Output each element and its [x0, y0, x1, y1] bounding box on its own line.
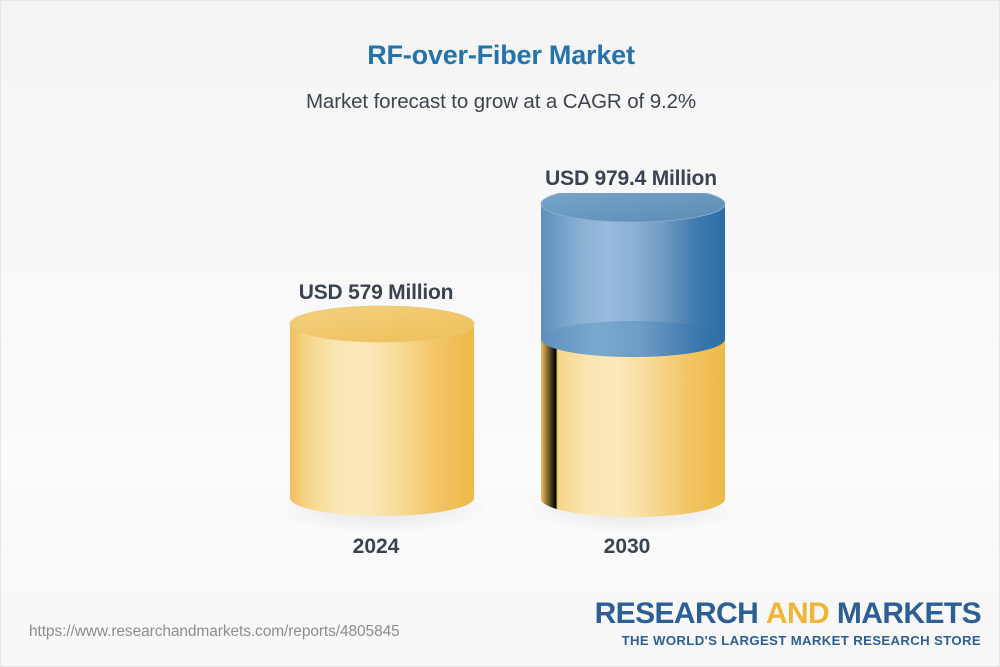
chart-subtitle: Market forecast to grow at a CAGR of 9.2… — [1, 90, 1000, 114]
bar-cylinder-2030 — [533, 193, 733, 523]
category-label-2024: 2024 — [276, 535, 476, 559]
logo-word-markets: MARKETS — [837, 597, 981, 630]
logo-word-and: AND — [766, 597, 829, 630]
chart-canvas: RF-over-Fiber Market Market forecast to … — [0, 0, 1000, 667]
logo-word-research: RESEARCH — [595, 597, 759, 630]
source-url[interactable]: https://www.researchandmarkets.com/repor… — [29, 623, 400, 641]
bar-value-label-2030: USD 979.4 Million — [431, 167, 831, 191]
logo-wordmark: RESEARCH AND MARKETS — [595, 599, 981, 629]
brand-logo[interactable]: RESEARCH AND MARKETS THE WORLD'S LARGEST… — [595, 599, 981, 647]
logo-tagline: THE WORLD'S LARGEST MARKET RESEARCH STOR… — [595, 634, 981, 647]
bar-cylinder-2024 — [282, 301, 482, 531]
category-label-2030: 2030 — [527, 535, 727, 559]
page-title: RF-over-Fiber Market — [1, 40, 1000, 71]
